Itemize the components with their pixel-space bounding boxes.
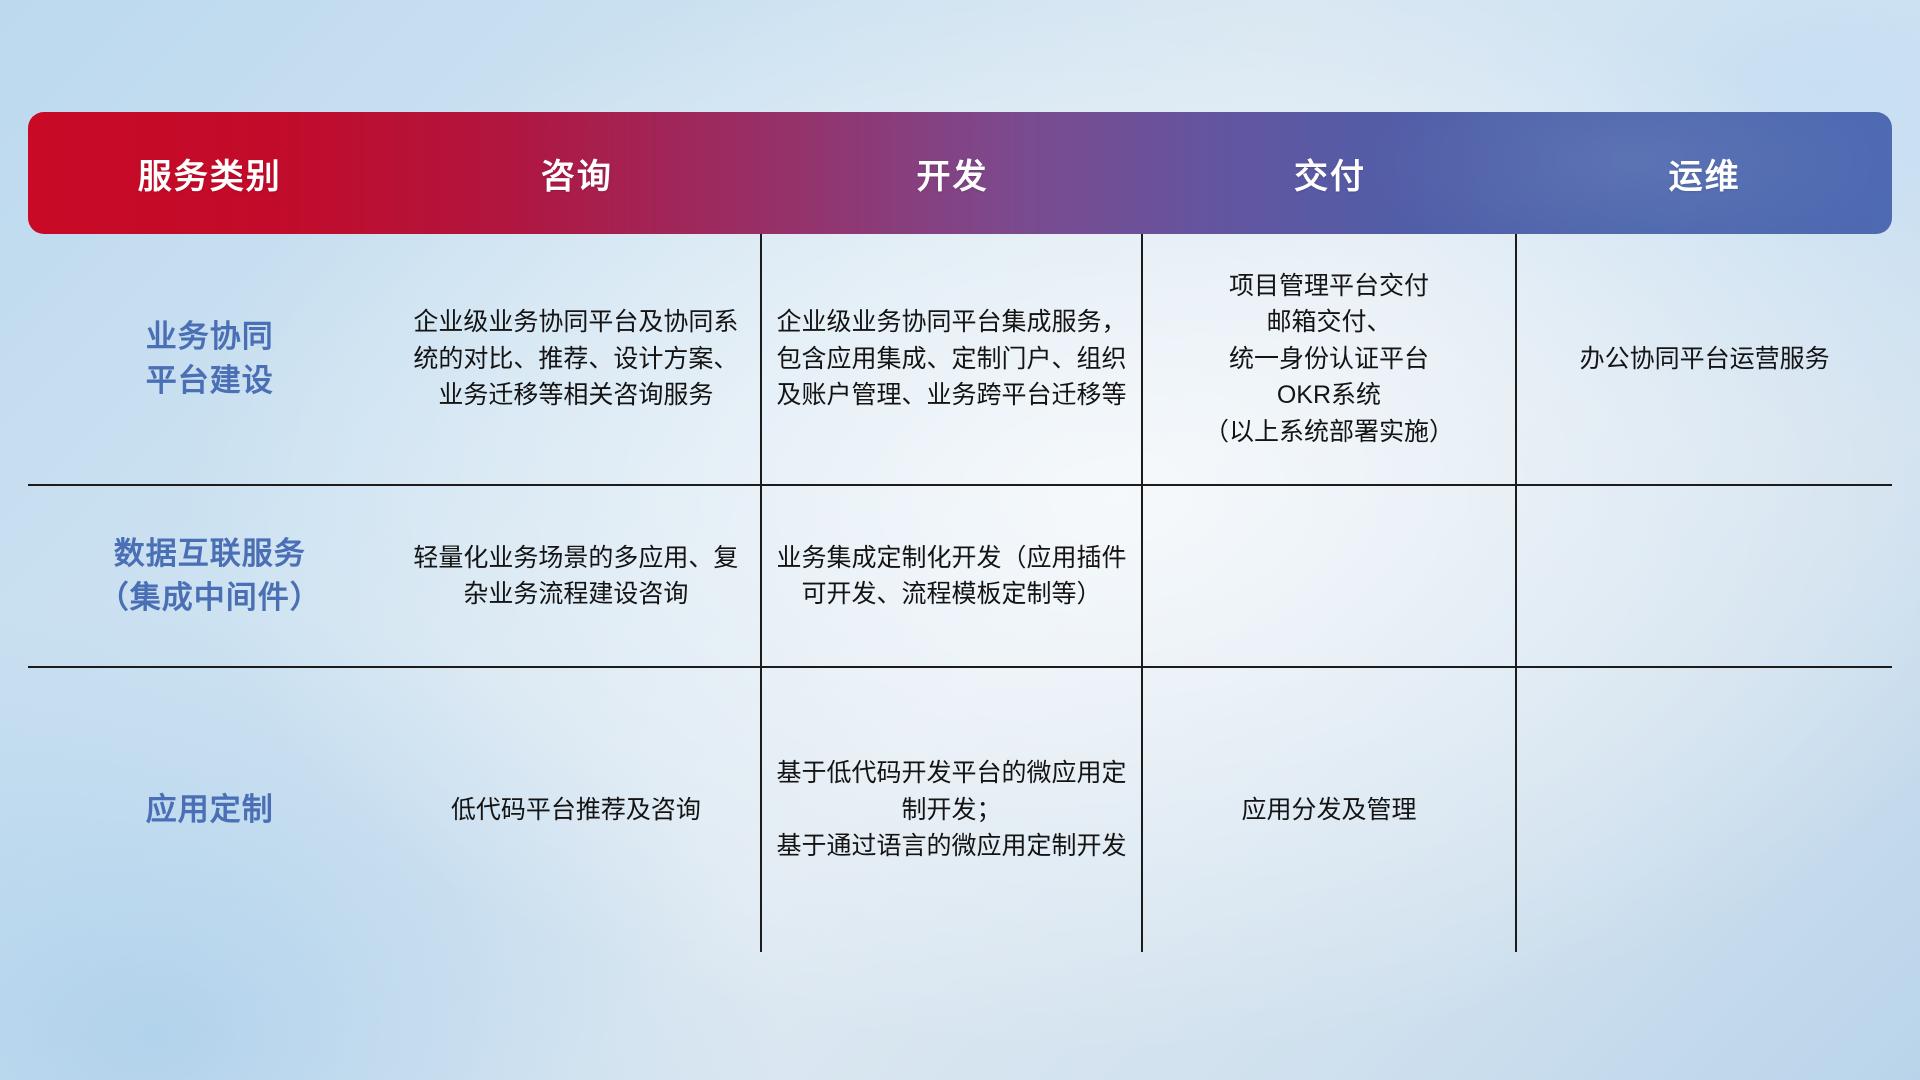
cell-operations: 办公协同平台运营服务 [1517,234,1892,484]
cell-category: 应用定制 [28,668,391,952]
cell-operations [1517,486,1892,666]
cell-consulting: 企业级业务协同平台及协同系 统的对比、推荐、设计方案、 业务迁移等相关咨询服务 [391,234,762,484]
table-header-row: 服务类别 咨询 开发 交付 运维 [28,112,1892,234]
column-header-category: 服务类别 [28,112,391,234]
cell-text: 业务集成定制化开发（应用插件 可开发、流程模板定制等） [777,540,1127,613]
cell-consulting: 低代码平台推荐及咨询 [391,668,762,952]
table-body: 业务协同 平台建设 企业级业务协同平台及协同系 统的对比、推荐、设计方案、 业务… [28,234,1892,952]
cell-delivery: 项目管理平台交付 邮箱交付、 统一身份认证平台 OKR系统 （以上系统部署实施） [1143,234,1518,484]
column-header-consulting: 咨询 [391,112,762,234]
cell-text: 项目管理平台交付 邮箱交付、 统一身份认证平台 OKR系统 （以上系统部署实施） [1204,268,1454,451]
cell-consulting: 轻量化业务场景的多应用、复 杂业务流程建设咨询 [391,486,762,666]
cell-development: 基于低代码开发平台的微应用定 制开发； 基于通过语言的微应用定制开发 [762,668,1142,952]
cell-operations [1517,668,1892,952]
slide-canvas: 服务类别 咨询 开发 交付 运维 业务协同 平台建设 企业级业务协同平台及协同系… [0,0,1920,1080]
cell-text: 轻量化业务场景的多应用、复 杂业务流程建设咨询 [413,540,738,613]
row-label: 数据互联服务 （集成中间件） [98,532,322,620]
cell-category: 数据互联服务 （集成中间件） [28,486,391,666]
cell-text: 基于低代码开发平台的微应用定 制开发； 基于通过语言的微应用定制开发 [777,755,1127,865]
table-row: 应用定制 低代码平台推荐及咨询 基于低代码开发平台的微应用定 制开发； 基于通过… [28,666,1892,952]
cell-category: 业务协同 平台建设 [28,234,391,484]
cell-text: 应用分发及管理 [1241,792,1416,829]
column-header-operations: 运维 [1517,112,1892,234]
cell-text: 企业级业务协同平台及协同系 统的对比、推荐、设计方案、 业务迁移等相关咨询服务 [413,304,738,414]
cell-development: 企业级业务协同平台集成服务， 包含应用集成、定制门户、组织 及账户管理、业务跨平… [762,234,1142,484]
cell-delivery: 应用分发及管理 [1143,668,1518,952]
cell-text: 企业级业务协同平台集成服务， 包含应用集成、定制门户、组织 及账户管理、业务跨平… [777,304,1127,414]
column-header-development: 开发 [762,112,1142,234]
row-label: 业务协同 平台建设 [146,315,274,403]
cell-text: 低代码平台推荐及咨询 [451,792,701,829]
column-header-delivery: 交付 [1143,112,1518,234]
table-row: 数据互联服务 （集成中间件） 轻量化业务场景的多应用、复 杂业务流程建设咨询 业… [28,484,1892,666]
cell-development: 业务集成定制化开发（应用插件 可开发、流程模板定制等） [762,486,1142,666]
row-label: 应用定制 [146,788,274,832]
cell-text: 办公协同平台运营服务 [1580,341,1830,378]
service-category-table: 服务类别 咨询 开发 交付 运维 业务协同 平台建设 企业级业务协同平台及协同系… [28,112,1892,952]
table-row: 业务协同 平台建设 企业级业务协同平台及协同系 统的对比、推荐、设计方案、 业务… [28,234,1892,484]
cell-delivery [1143,486,1518,666]
